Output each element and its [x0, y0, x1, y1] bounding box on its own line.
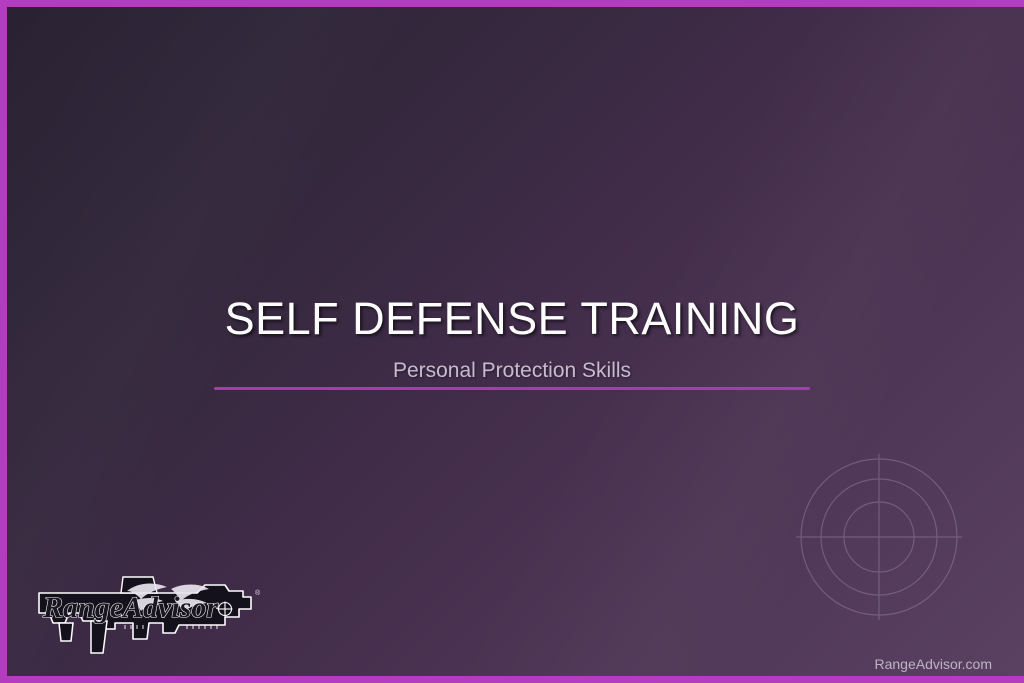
crosshair-middle-circle	[821, 479, 937, 595]
brand-logo: RangeAdvisor ®	[29, 567, 269, 667]
crosshair-outer-circle	[801, 459, 957, 615]
crosshair-inner-circle	[844, 502, 914, 572]
title-divider	[214, 387, 810, 390]
site-url-label: RangeAdvisor.com	[7, 655, 992, 673]
crosshair-target-icon	[794, 452, 964, 622]
brand-trademark: ®	[255, 589, 261, 597]
page-subtitle: Personal Protection Skills	[7, 357, 1017, 384]
slide-border-frame: SELF DEFENSE TRAINING Personal Protectio…	[0, 0, 1024, 683]
brand-wordmark: RangeAdvisor	[42, 591, 218, 624]
page-title: SELF DEFENSE TRAINING	[7, 293, 1017, 345]
slide-canvas: SELF DEFENSE TRAINING Personal Protectio…	[7, 7, 1024, 676]
presentation-slide: SELF DEFENSE TRAINING Personal Protectio…	[0, 0, 1024, 683]
